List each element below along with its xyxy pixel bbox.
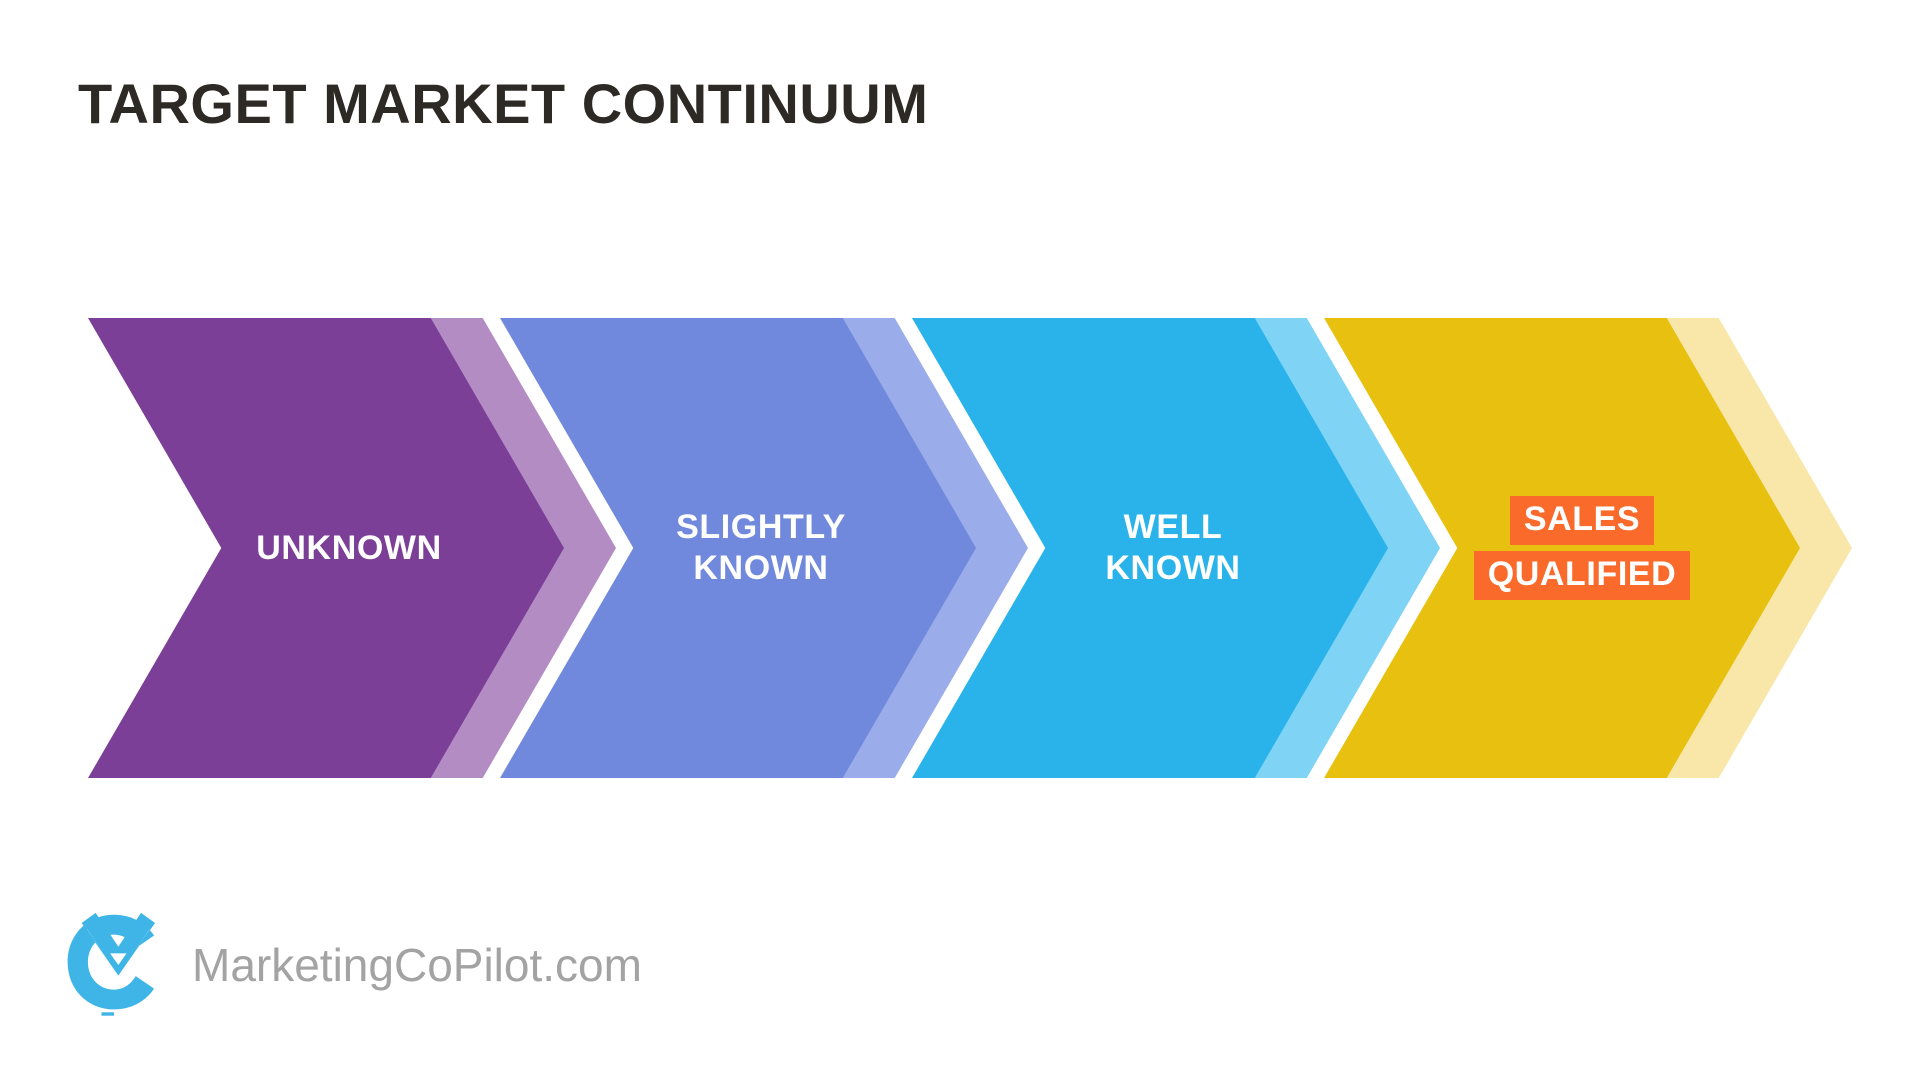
- logo-wordmark: MarketingCoPilot.com: [192, 938, 642, 992]
- chevron-stage-1[interactable]: UNKNOWN: [88, 318, 564, 778]
- marketingcopilot-c-icon: [62, 909, 166, 1021]
- page-title: TARGET MARKET CONTINUUM: [78, 72, 928, 136]
- chevron-stage-2[interactable]: SLIGHTLY KNOWN: [500, 318, 976, 778]
- brand-logo[interactable]: MarketingCoPilot.com: [62, 900, 642, 1030]
- slide-canvas: TARGET MARKET CONTINUUM UNKNOWN SLIGHTLY…: [0, 0, 1920, 1080]
- chevron-stage-4[interactable]: SALES QUALIFIED: [1324, 318, 1800, 778]
- chevron-stage-3[interactable]: WELL KNOWN: [912, 318, 1388, 778]
- target-market-continuum: UNKNOWN SLIGHTLY KNOWN WELL KNOWN: [0, 318, 1920, 778]
